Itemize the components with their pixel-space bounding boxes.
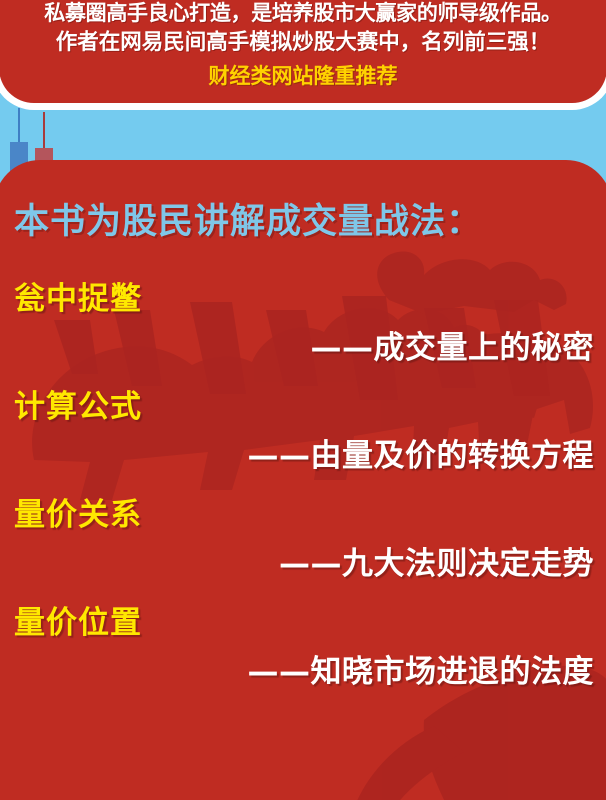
topic-heading-3: 量价关系 bbox=[14, 496, 598, 534]
top-banner-text-group: 私募圈高手良心打造，是培养股市大赢家的师导级作品。 作者在网易民间高手模拟炒股大… bbox=[0, 0, 606, 103]
banner-line-1: 私募圈高手良心打造，是培养股市大赢家的师导级作品。 bbox=[0, 0, 606, 28]
topic-block-4: 量价位置 ——知晓市场进退的法度 bbox=[14, 604, 598, 692]
topic-subtitle-1: ——成交量上的秘密 bbox=[14, 328, 598, 368]
topic-heading-2: 计算公式 bbox=[14, 388, 598, 426]
topic-block-3: 量价关系 ——九大法则决定走势 bbox=[14, 496, 598, 584]
top-banner: 私募圈高手良心打造，是培养股市大赢家的师导级作品。 作者在网易民间高手模拟炒股大… bbox=[0, 0, 606, 110]
poster: 私募圈高手良心打造，是培养股市大赢家的师导级作品。 作者在网易民间高手模拟炒股大… bbox=[0, 0, 606, 800]
topic-subtitle-3: ——九大法则决定走势 bbox=[14, 544, 598, 584]
banner-recommendation-line: 财经类网站隆重推荐 bbox=[0, 61, 606, 91]
topic-subtitle-2: ——由量及价的转换方程 bbox=[14, 436, 598, 476]
topic-heading-4: 量价位置 bbox=[14, 604, 598, 642]
topic-heading-1: 瓮中捉鳖 bbox=[14, 280, 598, 318]
topic-block-2: 计算公式 ——由量及价的转换方程 bbox=[14, 388, 598, 476]
topic-block-1: 瓮中捉鳖 ——成交量上的秘密 bbox=[14, 280, 598, 368]
banner-line-2: 作者在网易民间高手模拟炒股大赛中，名列前三强！ bbox=[0, 28, 606, 58]
main-content-panel: 本书为股民讲解成交量战法： 瓮中捉鳖 ——成交量上的秘密 计算公式 ——由量及价… bbox=[0, 160, 606, 800]
page-title: 本书为股民讲解成交量战法： bbox=[14, 202, 598, 242]
panel-content: 本书为股民讲解成交量战法： 瓮中捉鳖 ——成交量上的秘密 计算公式 ——由量及价… bbox=[0, 160, 606, 800]
topic-subtitle-4: ——知晓市场进退的法度 bbox=[14, 652, 598, 692]
